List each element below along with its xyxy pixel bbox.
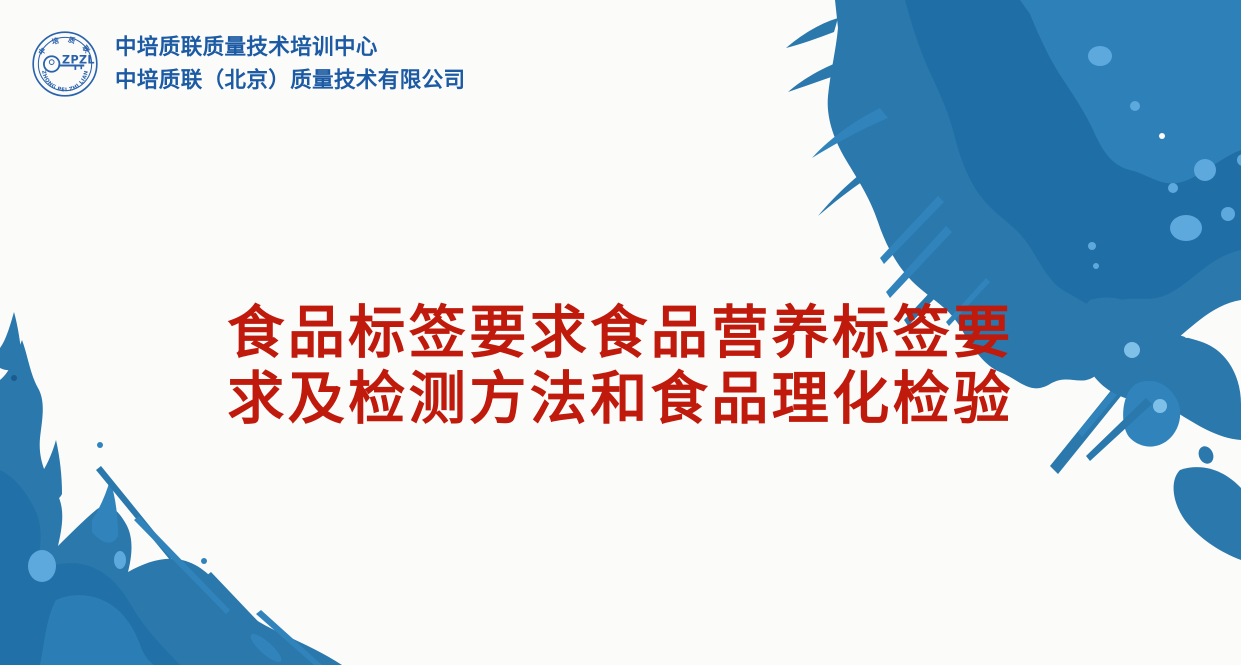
- splash-streak-upper-2: [788, 56, 860, 92]
- splash-droplet-light-8: [1088, 242, 1096, 250]
- brand-line-company: 中培质联（北京）质量技术有限公司: [115, 65, 465, 96]
- splash-droplet-dark-2: [1189, 488, 1211, 512]
- splash-shape-top-right-mid: [1020, 0, 1241, 183]
- page-title-line-2: 求及检测方法和食品理化检验: [0, 366, 1241, 432]
- splash-streak-lower-4: [256, 610, 322, 665]
- splash-droplet-lower-2: [247, 630, 285, 665]
- page-title-line-1: 食品标签要求食品营养标签要: [0, 300, 1241, 366]
- seal-key-dot: [49, 60, 54, 65]
- splash-shape-bottom-left-dark: [0, 470, 180, 665]
- splash-streak-upper-1: [786, 18, 838, 48]
- splash-droplet-light-5: [1170, 215, 1202, 241]
- splash-shape-top-right-dark: [905, 0, 1241, 307]
- splash-streak-lower-2: [134, 516, 230, 614]
- splash-droplet-left-light-2: [114, 551, 126, 569]
- seal-key-ring: [44, 56, 60, 72]
- splash-droplet-light-1: [1088, 46, 1112, 66]
- splash-droplet-lower-1: [185, 603, 234, 650]
- splash-tendril-left-2: [38, 440, 62, 501]
- brand-line-training-center: 中培质联质量技术培训中心: [115, 32, 465, 63]
- splash-droplet-left-light-1: [28, 550, 56, 582]
- splash-streak-upper-3: [812, 108, 888, 158]
- brand-header: 中 培 质 联 ZHONG PEI ZHI LIAN ZPZL 中培质联质量技术…: [28, 27, 465, 101]
- splash-droplet-lower-3: [97, 442, 103, 448]
- splash-droplet-light-6: [1221, 207, 1235, 221]
- splash-streak-thin-2: [886, 226, 952, 298]
- splash-shape-right-lower: [1174, 467, 1241, 560]
- brand-text-block: 中培质联质量技术培训中心 中培质联（北京）质量技术有限公司: [115, 32, 465, 95]
- splash-droplet-dark-1: [1196, 444, 1216, 466]
- splash-streak-lower-3: [206, 572, 291, 660]
- splash-shape-bottom-left-mid: [40, 595, 154, 665]
- splash-droplet-lower-4: [201, 558, 207, 564]
- slide-canvas: 中 培 质 联 ZHONG PEI ZHI LIAN ZPZL 中培质联质量技术…: [0, 0, 1241, 665]
- seal-monogram: ZPZL: [62, 53, 95, 66]
- splash-tendril-left-3: [92, 480, 118, 543]
- splash-droplet-light-9: [1093, 263, 1099, 269]
- splash-droplet-light-2: [1130, 101, 1140, 111]
- splash-streak-thin-1: [880, 196, 944, 264]
- splash-droplet-white-1: [1159, 133, 1165, 139]
- splash-droplet-light-7: [1237, 154, 1241, 166]
- splash-droplet-light-3: [1194, 159, 1216, 181]
- page-title: 食品标签要求食品营养标签要 求及检测方法和食品理化检验: [0, 300, 1241, 431]
- splash-streak-upper-4: [818, 146, 906, 216]
- splash-streak-lower-1: [96, 466, 174, 560]
- splash-droplet-light-4: [1168, 183, 1178, 193]
- zpzl-seal-logo: 中 培 质 联 ZHONG PEI ZHI LIAN ZPZL: [28, 27, 102, 101]
